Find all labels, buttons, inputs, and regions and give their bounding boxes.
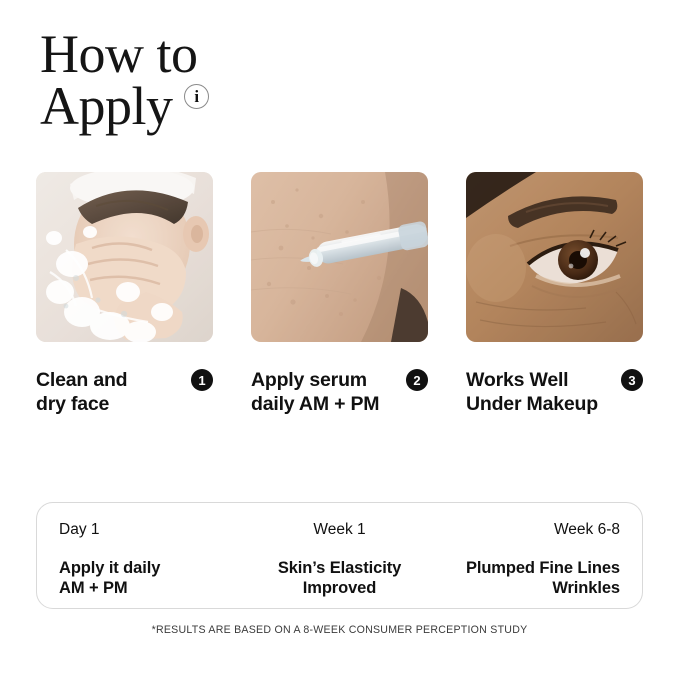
timeline-column-day-1: Day 1 Apply it daily AM + PM [59, 520, 246, 598]
step-caption: Apply serum daily AM + PM [251, 368, 379, 416]
step-caption-row: Clean and dry face 1 [36, 368, 213, 416]
step-image-cleansing-face [36, 172, 213, 342]
step-item: Clean and dry face 1 [36, 172, 213, 416]
step-image-eye-closeup [466, 172, 643, 342]
step-caption: Clean and dry face [36, 368, 127, 416]
step-caption: Works Well Under Makeup [466, 368, 598, 416]
step-item: Apply serum daily AM + PM 2 [251, 172, 428, 416]
step-item: Works Well Under Makeup 3 [466, 172, 643, 416]
timeline-column-week-6-8: Week 6-8 Plumped Fine Lines Wrinkles [433, 520, 620, 598]
steps-row: Clean and dry face 1 [36, 172, 643, 416]
timeline-body: Apply it daily AM + PM [59, 558, 246, 598]
timeline-heading: Day 1 [59, 520, 246, 539]
timeline-body: Plumped Fine Lines Wrinkles [433, 558, 620, 598]
results-timeline-box: Day 1 Apply it daily AM + PM Week 1 Skin… [36, 502, 643, 609]
timeline-heading: Week 6-8 [433, 520, 620, 539]
timeline-column-week-1: Week 1 Skin’s Elasticity Improved [246, 520, 433, 598]
step-number-badge: 2 [406, 369, 428, 391]
page-title-line-1: How to [40, 28, 360, 80]
page-title: How to Apply i [40, 28, 360, 132]
step-number-badge: 3 [621, 369, 643, 391]
step-caption-row: Works Well Under Makeup 3 [466, 368, 643, 416]
step-number-badge: 1 [191, 369, 213, 391]
info-icon-label: i [194, 88, 198, 105]
page-title-line-2-wrap: Apply i [40, 80, 173, 132]
how-to-apply-panel: How to Apply i [0, 0, 679, 679]
page-title-line-2: Apply [40, 76, 173, 136]
footnote-disclaimer: *RESULTS ARE BASED ON A 8-WEEK CONSUMER … [0, 624, 679, 636]
step-image-serum-dropper [251, 172, 428, 342]
step-caption-row: Apply serum daily AM + PM 2 [251, 368, 428, 416]
timeline-heading: Week 1 [246, 520, 433, 539]
timeline-body: Skin’s Elasticity Improved [246, 558, 433, 598]
info-circle-icon[interactable]: i [184, 84, 209, 109]
